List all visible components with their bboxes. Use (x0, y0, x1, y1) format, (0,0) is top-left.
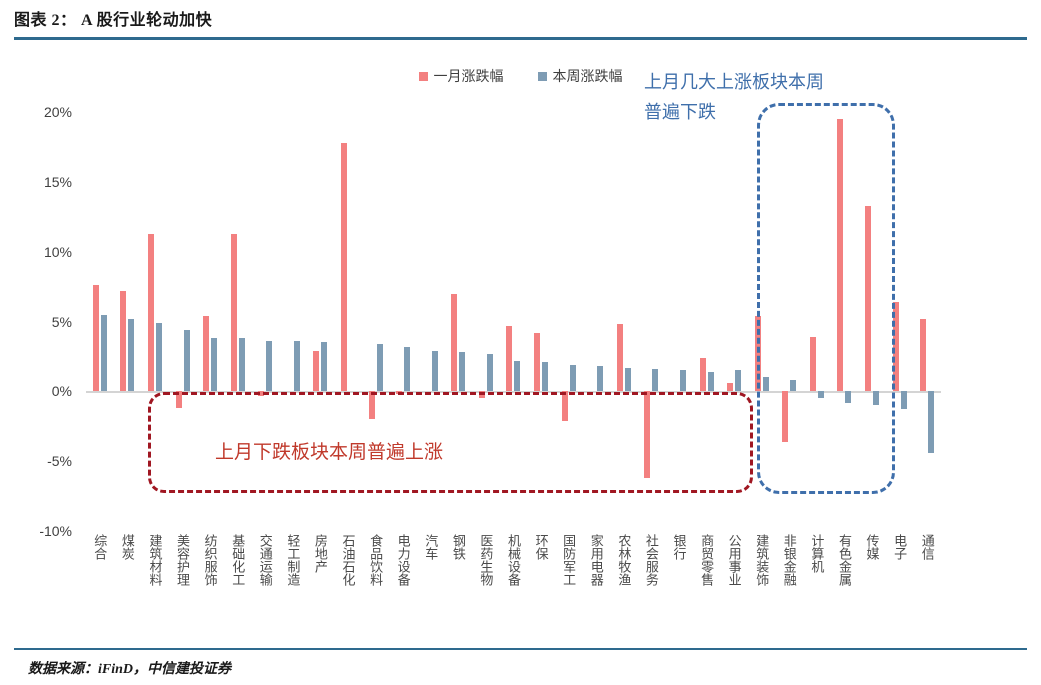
x-axis-tick-label: 建筑装饰 (755, 534, 768, 586)
x-axis-tick-label: 机械设备 (507, 534, 520, 586)
bar-group (279, 112, 307, 531)
bar-group (500, 112, 528, 531)
bar-weekly (239, 338, 245, 391)
x-axis-tick-label: 轻工制造 (286, 534, 299, 586)
bar-group (417, 112, 445, 531)
bar-group (858, 112, 886, 531)
x-axis-tick-label: 纺织服饰 (204, 534, 217, 586)
x-axis-tick-label: 农林牧渔 (617, 534, 630, 586)
bar-weekly (708, 372, 714, 392)
bar-weekly (404, 347, 410, 392)
page-title: 图表 2： A 股行业轮动加快 (14, 6, 1027, 30)
bar-monthly (865, 206, 871, 392)
bar-group (886, 112, 914, 531)
bar-monthly (479, 391, 485, 398)
x-axis-tick-label: 美容护理 (176, 534, 189, 586)
annotation-blue-line1: 上月几大上涨板块本周 (644, 72, 824, 92)
bar-weekly (763, 377, 769, 391)
bar-monthly (176, 391, 182, 408)
bar-weekly (928, 391, 934, 452)
bar-monthly (506, 326, 512, 392)
bar-weekly (570, 365, 576, 392)
bar-group (776, 112, 804, 531)
x-axis-tick-label: 电力设备 (397, 534, 410, 586)
bar-monthly (837, 119, 843, 391)
bar-group (555, 112, 583, 531)
y-axis-tick-label: 15% (44, 174, 72, 190)
bar-weekly (735, 370, 741, 391)
title-divider (14, 37, 1027, 40)
bar-weekly (156, 323, 162, 391)
bar-group (610, 112, 638, 531)
bar-group (114, 112, 142, 531)
bar-monthly (120, 291, 126, 392)
bar-group (307, 112, 335, 531)
x-axis-tick-label: 有色金属 (838, 534, 851, 586)
bar-group (720, 112, 748, 531)
bar-monthly (920, 319, 926, 392)
y-axis: 20%15%10%5%0%-5%-10% (0, 112, 80, 531)
x-axis-tick-label: 公用事业 (728, 534, 741, 586)
legend-swatch-icon (419, 72, 428, 81)
x-axis-tick-label: 社会服务 (645, 534, 658, 586)
bar-monthly (451, 294, 457, 392)
bar-group (86, 112, 114, 531)
bar-weekly (128, 319, 134, 392)
bar-weekly (184, 330, 190, 391)
bar-group (362, 112, 390, 531)
bar-group (527, 112, 555, 531)
x-axis-tick-label: 钢铁 (452, 534, 465, 560)
bar-monthly (534, 333, 540, 392)
bar-group (748, 112, 776, 531)
bar-monthly (203, 316, 209, 391)
bar-monthly (93, 285, 99, 391)
bar-group (389, 112, 417, 531)
bar-weekly (790, 380, 796, 391)
bar-group (196, 112, 224, 531)
bar-group (141, 112, 169, 531)
bar-weekly (432, 351, 438, 392)
bar-group (913, 112, 941, 531)
bar-group (665, 112, 693, 531)
bar-monthly (727, 383, 733, 391)
x-axis-tick-label: 非银金融 (783, 534, 796, 586)
bar-weekly (542, 362, 548, 391)
bar-monthly (617, 324, 623, 391)
bar-weekly (459, 352, 465, 391)
x-axis-tick-label: 石油石化 (342, 534, 355, 586)
bar-weekly (487, 354, 493, 392)
bar-monthly (893, 302, 899, 391)
footer-divider (14, 648, 1027, 650)
x-axis-tick-label: 家用电器 (590, 534, 603, 586)
bar-weekly (321, 342, 327, 391)
legend-label: 本周涨跌幅 (553, 66, 623, 86)
bar-monthly (341, 143, 347, 392)
bar-weekly (818, 391, 824, 398)
bar-weekly (652, 369, 658, 391)
bar-monthly (369, 391, 375, 419)
legend-item-monthly: 一月涨跌幅 (419, 66, 504, 86)
annotation-blue-line2: 普遍下跌 (644, 98, 904, 128)
x-axis-tick-label: 医药生物 (479, 534, 492, 586)
x-axis-tick-label: 传媒 (866, 534, 879, 560)
bar-group (472, 112, 500, 531)
x-axis-tick-label: 商贸零售 (700, 534, 713, 586)
bar-monthly (148, 234, 154, 392)
x-axis-tick-label: 食品饮料 (369, 534, 382, 586)
y-axis-tick-label: 5% (52, 314, 72, 330)
chart-header: 图表 2： A 股行业轮动加快 (14, 6, 1027, 40)
bar-weekly (680, 370, 686, 391)
bar-weekly (294, 341, 300, 391)
x-axis: 综合煤炭建筑材料美容护理纺织服饰基础化工交通运输轻工制造房地产石油石化食品饮料电… (86, 534, 941, 649)
bar-group (251, 112, 279, 531)
x-axis-tick-label: 煤炭 (121, 534, 134, 560)
bar-group (582, 112, 610, 531)
x-axis-tick-label: 通信 (921, 534, 934, 560)
bar-group (831, 112, 859, 531)
source-note: 数据来源：iFinD，中信建投证券 (28, 658, 231, 678)
bar-monthly (755, 316, 761, 391)
bar-weekly (101, 315, 107, 392)
legend-swatch-icon (538, 72, 547, 81)
bar-group (445, 112, 473, 531)
x-axis-tick-label: 环保 (535, 534, 548, 560)
x-axis-tick-label: 汽车 (424, 534, 437, 560)
bar-weekly (597, 366, 603, 391)
y-axis-tick-label: 10% (44, 244, 72, 260)
bar-monthly (810, 337, 816, 391)
bar-weekly (901, 391, 907, 409)
bar-weekly (873, 391, 879, 405)
y-axis-tick-label: -10% (39, 523, 72, 539)
bar-group (803, 112, 831, 531)
bar-group (224, 112, 252, 531)
bar-weekly (211, 338, 217, 391)
bar-group (638, 112, 666, 531)
x-axis-tick-label: 交通运输 (259, 534, 272, 586)
annotation-text-blue: 上月几大上涨板块本周 普遍下跌 (644, 68, 904, 127)
legend-item-weekly: 本周涨跌幅 (538, 66, 623, 86)
annotation-text-red: 上月下跌板块本周普遍上涨 (215, 437, 443, 464)
bar-weekly (625, 368, 631, 392)
y-axis-tick-label: 0% (52, 383, 72, 399)
x-axis-tick-label: 基础化工 (231, 534, 244, 586)
bar-monthly (700, 358, 706, 392)
bar-monthly (782, 391, 788, 441)
x-axis-tick-label: 计算机 (810, 534, 823, 573)
bar-weekly (514, 361, 520, 392)
bar-weekly (377, 344, 383, 391)
x-axis-tick-label: 建筑材料 (148, 534, 161, 586)
bar-weekly (266, 341, 272, 391)
legend-label: 一月涨跌幅 (434, 66, 504, 86)
x-axis-tick-label: 综合 (93, 534, 106, 560)
bar-group (169, 112, 197, 531)
bar-monthly (231, 234, 237, 392)
bar-group (334, 112, 362, 531)
bar-monthly (396, 391, 402, 394)
x-axis-tick-label: 电子 (893, 534, 906, 560)
bar-group (693, 112, 721, 531)
y-axis-tick-label: 20% (44, 104, 72, 120)
bar-weekly (845, 391, 851, 402)
bar-monthly (258, 391, 264, 395)
y-axis-tick-label: -5% (47, 453, 72, 469)
bar-monthly (562, 391, 568, 420)
plot-area (86, 112, 941, 531)
x-axis-tick-label: 房地产 (314, 534, 327, 573)
bar-monthly (313, 351, 319, 392)
x-axis-tick-label: 银行 (672, 534, 685, 560)
bar-monthly (644, 391, 650, 478)
x-axis-tick-label: 国防军工 (562, 534, 575, 586)
